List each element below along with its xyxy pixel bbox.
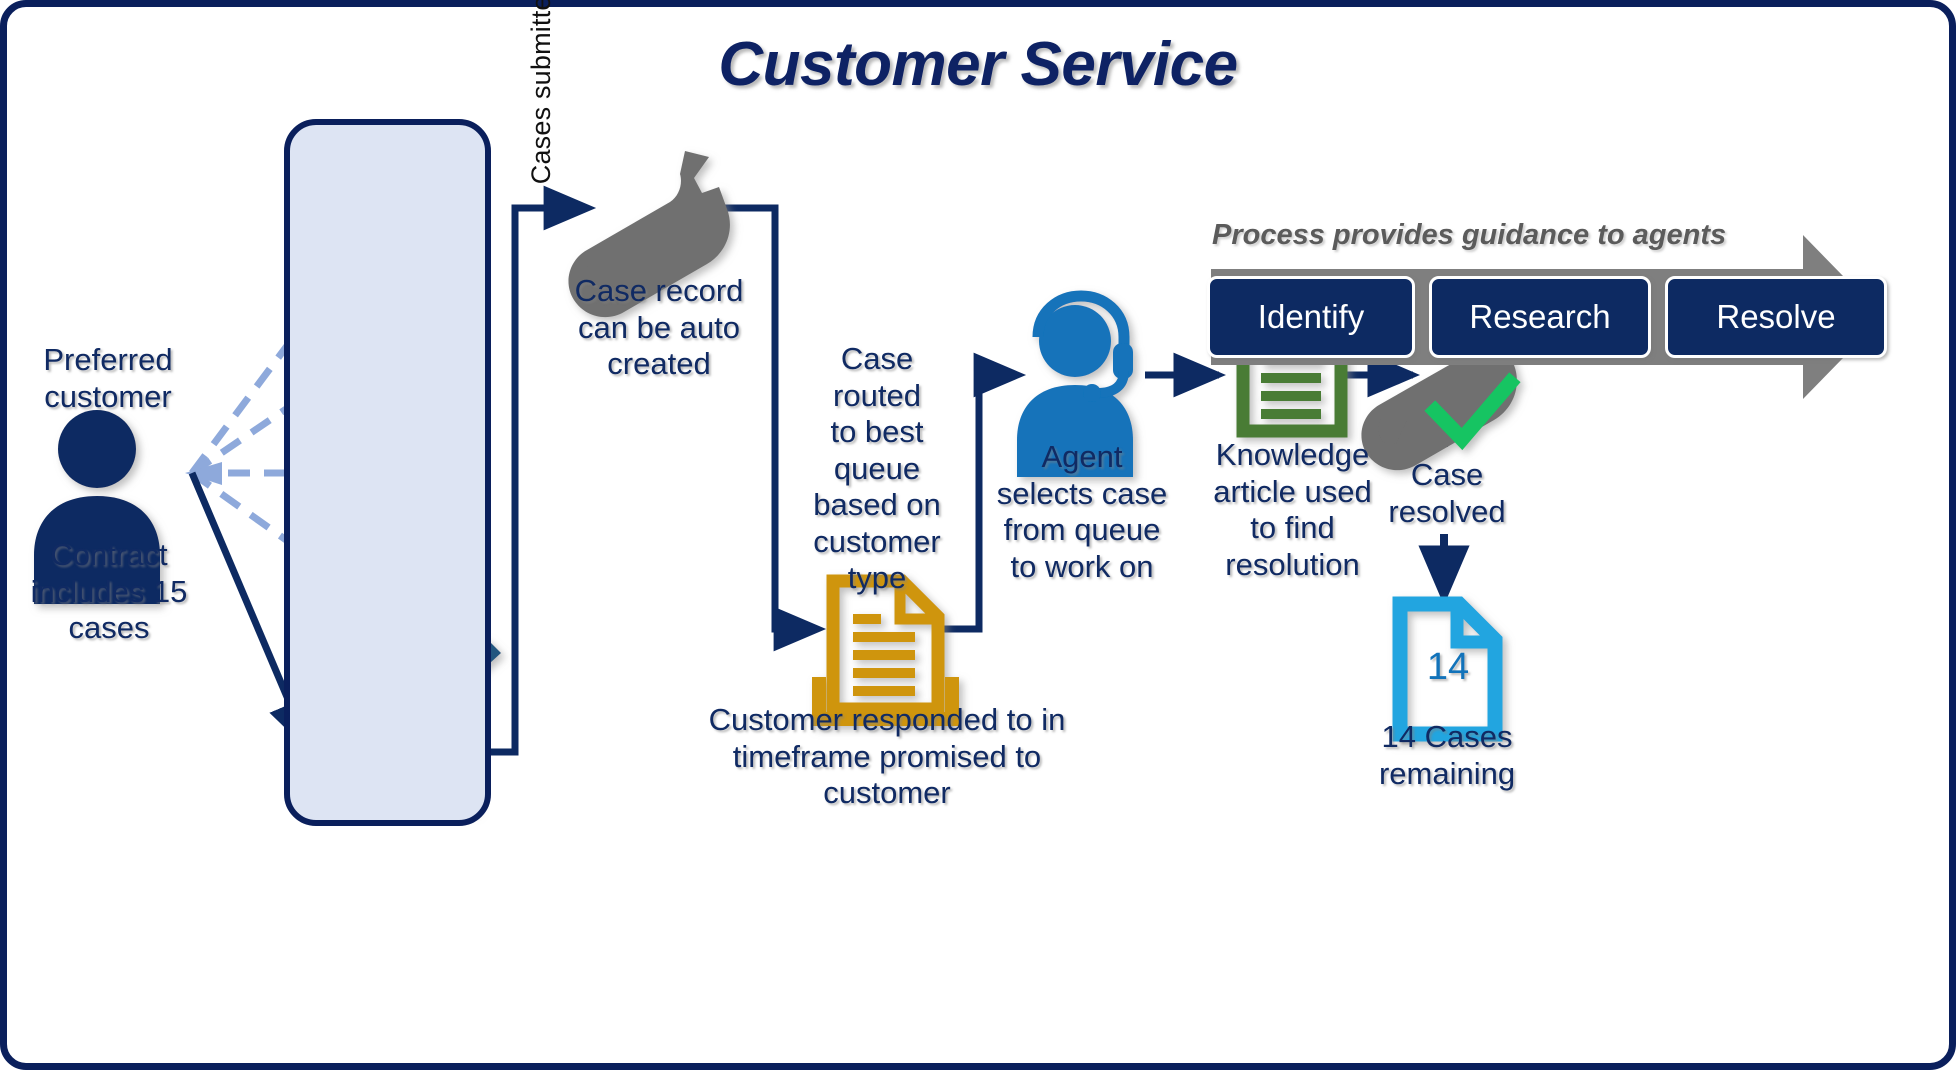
case-record-caption: Case record can be auto created — [559, 273, 759, 383]
customer-label-top: Preferred customer — [13, 342, 203, 415]
resolved-caption: Case resolved — [1357, 457, 1537, 530]
customer-responded-caption: Customer responded to in timeframe promi… — [707, 702, 1067, 812]
routing-caption: Case routed to best queue based on custo… — [793, 341, 961, 597]
process-caption: Process provides guidance to agents — [1212, 219, 1792, 252]
remaining-caption: 14 Cases remaining — [1357, 719, 1537, 792]
process-step-identify[interactable]: Identify — [1207, 276, 1415, 358]
customer-label-bottom: Contract includes 15 cases — [11, 537, 207, 647]
page-title: Customer Service — [7, 29, 1949, 100]
process-steps: Identify Research Resolve — [1207, 262, 1907, 372]
check-icon — [1435, 383, 1510, 439]
process-step-research[interactable]: Research — [1429, 276, 1651, 358]
process-step-resolve[interactable]: Resolve — [1665, 276, 1887, 358]
agent-caption: Agent selects case from queue to work on — [987, 439, 1177, 585]
diagram-canvas: Customer Service — [0, 0, 1956, 1070]
channels-panel — [284, 119, 491, 826]
channels-vertical-label: Cases submitted through multiple channel… — [526, 0, 557, 192]
remaining-badge-value: 14 — [1415, 645, 1481, 690]
document-tray-icon — [819, 581, 952, 719]
